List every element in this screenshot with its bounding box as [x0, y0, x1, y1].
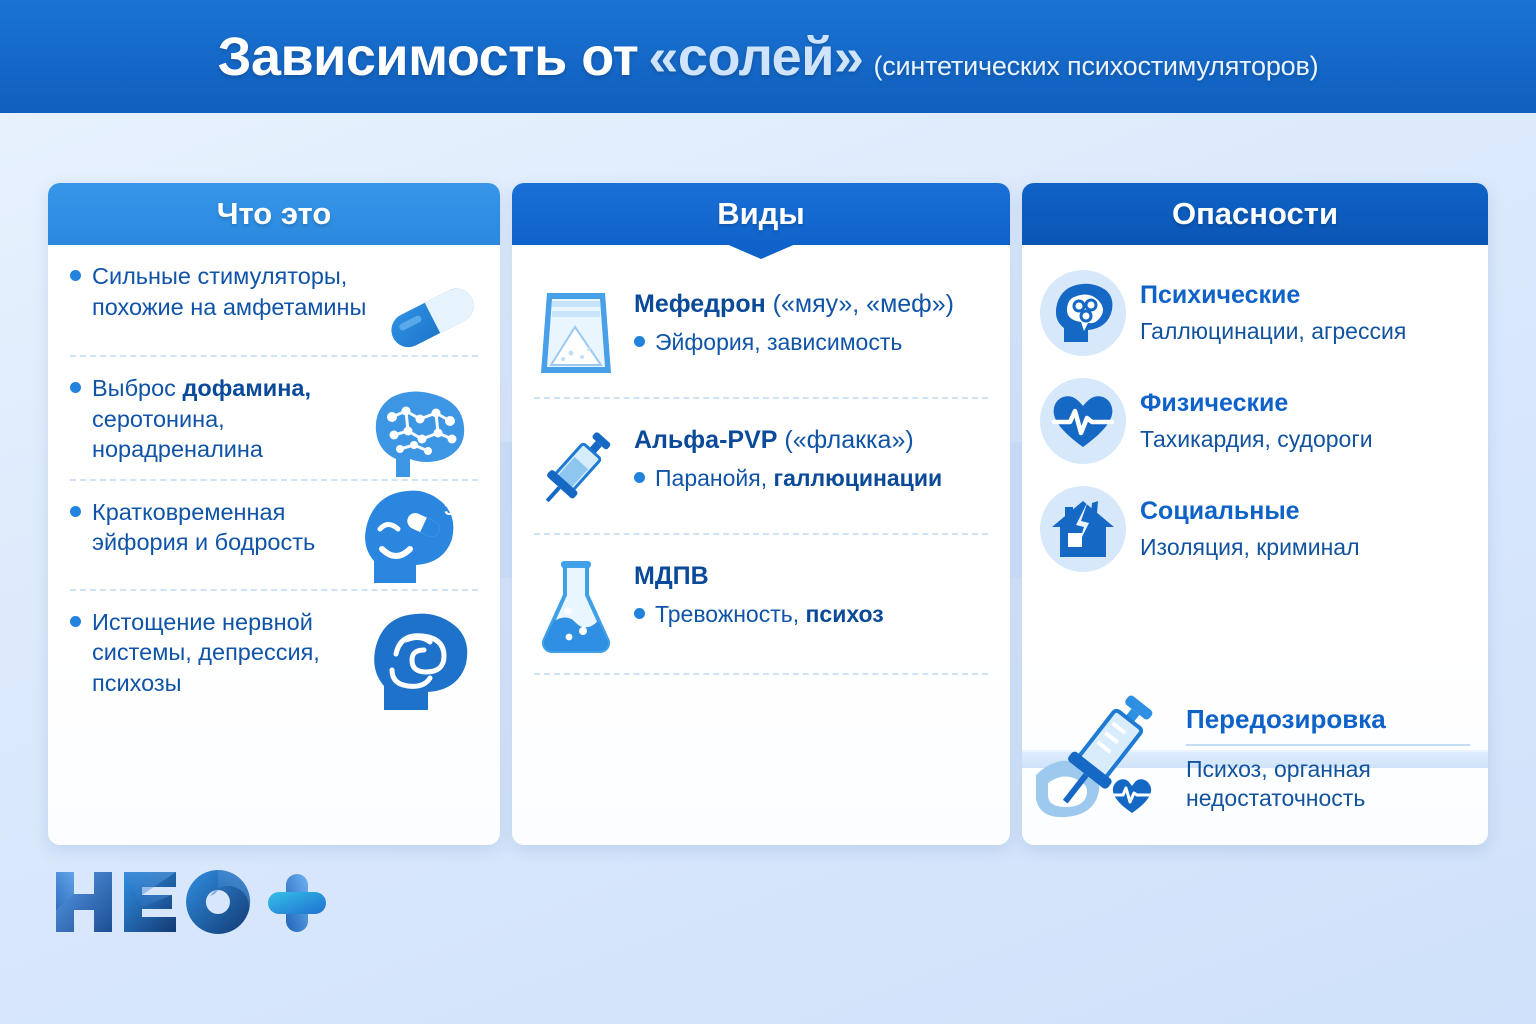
card-body-what-is-it: Сильные стимуляторы, похожие на амфетами…	[48, 245, 500, 712]
head-euphoria-icon: з z	[352, 487, 478, 591]
item-line-1: Истощение нервной	[92, 609, 313, 635]
danger-title: Психические	[1140, 281, 1470, 310]
dangers-list: Психические Галлюцинации, агрессия Физич…	[1022, 245, 1488, 593]
list-item: Сильные стимуляторы, похожие на амфетами…	[70, 245, 478, 355]
list-item: Выброс дофамина, серотонина, норадренали…	[70, 355, 478, 479]
item-line-1: Кратковременная	[92, 499, 285, 525]
card-types: Виды Мефедрон («мяу», «меф») Эй	[512, 183, 1010, 845]
card-what-is-it: Что это Сильные стимуляторы, похожие на …	[48, 183, 500, 845]
title-band: Зависимость от «солей» (синтетических пс…	[0, 0, 1536, 113]
powder-bag-icon	[534, 283, 618, 379]
item-line-2: серотонина, норадреналина	[92, 404, 400, 465]
card-dangers: Опасности Психические Галлюцинации, агре…	[1022, 183, 1488, 845]
item-line-2: похожие на амфетамины	[92, 292, 400, 323]
list-item: Физические Тахикардия, судороги	[1040, 367, 1470, 475]
divider	[534, 673, 988, 675]
overdose-section: Передозировка Психоз, органная недостато…	[1022, 750, 1488, 768]
bullet-dot-icon	[70, 506, 81, 517]
type-name: МДПВ	[634, 562, 709, 590]
type-name: Мефедрон	[634, 290, 766, 318]
bullet-dot-icon	[634, 472, 645, 483]
heart-pulse-icon	[1040, 378, 1126, 464]
type-effects: Тревожность,	[655, 601, 806, 627]
list-item: Психические Галлюцинации, агрессия	[1040, 259, 1470, 367]
type-alias: («флакка»)	[777, 426, 913, 454]
title-subtitle: (синтетических психостимуляторов)	[873, 51, 1318, 82]
head-psyche-icon	[1040, 270, 1126, 356]
title-main: Зависимость от	[218, 26, 639, 88]
overdose-sub-line-2: недостаточность	[1186, 785, 1365, 811]
list-item: Истощение нервной системы, депрессия, пс…	[70, 589, 478, 713]
danger-title: Социальные	[1140, 497, 1470, 526]
bullet-dot-icon	[634, 336, 645, 347]
syringe-icon	[534, 419, 618, 515]
head-brain-maze-icon	[362, 610, 482, 718]
list-item: Кратковременная эйфория и бодрость з z	[70, 479, 478, 589]
danger-sub: Тахикардия, судороги	[1140, 426, 1470, 454]
svg-text:з: з	[444, 495, 455, 520]
list-item: Мефедрон («мяу», «меф») Эйфория, зависим…	[534, 263, 988, 397]
item-line-2: системы, депрессия, психозы	[92, 637, 400, 698]
logo-neo-plus[interactable]	[50, 866, 340, 938]
brain-network-icon	[362, 387, 480, 483]
card-body-types: Мефедрон («мяу», «меф») Эйфория, зависим…	[512, 245, 1010, 675]
danger-sub: Изоляция, криминал	[1140, 534, 1470, 562]
danger-sub: Галлюцинации, агрессия	[1140, 318, 1470, 346]
pill-capsule-icon	[380, 281, 484, 353]
bullet-dot-icon	[634, 608, 645, 619]
svg-text:z: z	[456, 490, 463, 506]
type-effects-bold: галлюцинации	[773, 465, 942, 491]
item-line-1: Сильные стимуляторы,	[92, 263, 347, 289]
card-header-label: Опасности	[1172, 196, 1338, 232]
danger-title: Физические	[1140, 389, 1470, 418]
list-item: Альфа-PVP («флакка») Паранойя, галлюцина…	[534, 397, 988, 533]
type-effects: Эйфория, зависимость	[655, 329, 902, 355]
syringe-overdose-icon	[1026, 683, 1178, 833]
list-item: Социальные Изоляция, криминал	[1040, 475, 1470, 583]
card-body-dangers: Психические Галлюцинации, агрессия Физич…	[1022, 245, 1488, 593]
list-item: МДПВ Тревожность, психоз	[534, 533, 988, 673]
card-header-dangers: Опасности	[1022, 183, 1488, 245]
type-alias: («мяу», «меф»)	[766, 290, 954, 318]
item-line-1-bold: дофамина,	[182, 375, 311, 401]
bullet-dot-icon	[70, 270, 81, 281]
title-quoted: «солей»	[648, 26, 863, 88]
overdose-sub-line-1: Психоз, органная	[1186, 756, 1371, 782]
page-title: Зависимость от «солей» (синтетических пс…	[218, 26, 1319, 88]
type-name: Альфа-PVP	[634, 426, 777, 454]
card-header-label: Что это	[217, 196, 332, 232]
broken-house-icon	[1040, 486, 1126, 572]
bullet-dot-icon	[70, 616, 81, 627]
divider	[1186, 744, 1470, 746]
card-header-types: Виды	[512, 183, 1010, 245]
type-effects-bold: психоз	[806, 601, 884, 627]
item-line-1-pre: Выброс	[92, 375, 182, 401]
overdose-title: Передозировка	[1186, 704, 1470, 735]
type-effects: Паранойя,	[655, 465, 773, 491]
flask-icon	[534, 555, 618, 655]
card-header-what-is-it: Что это	[48, 183, 500, 245]
bullet-dot-icon	[70, 382, 81, 393]
card-header-label: Виды	[717, 196, 805, 232]
